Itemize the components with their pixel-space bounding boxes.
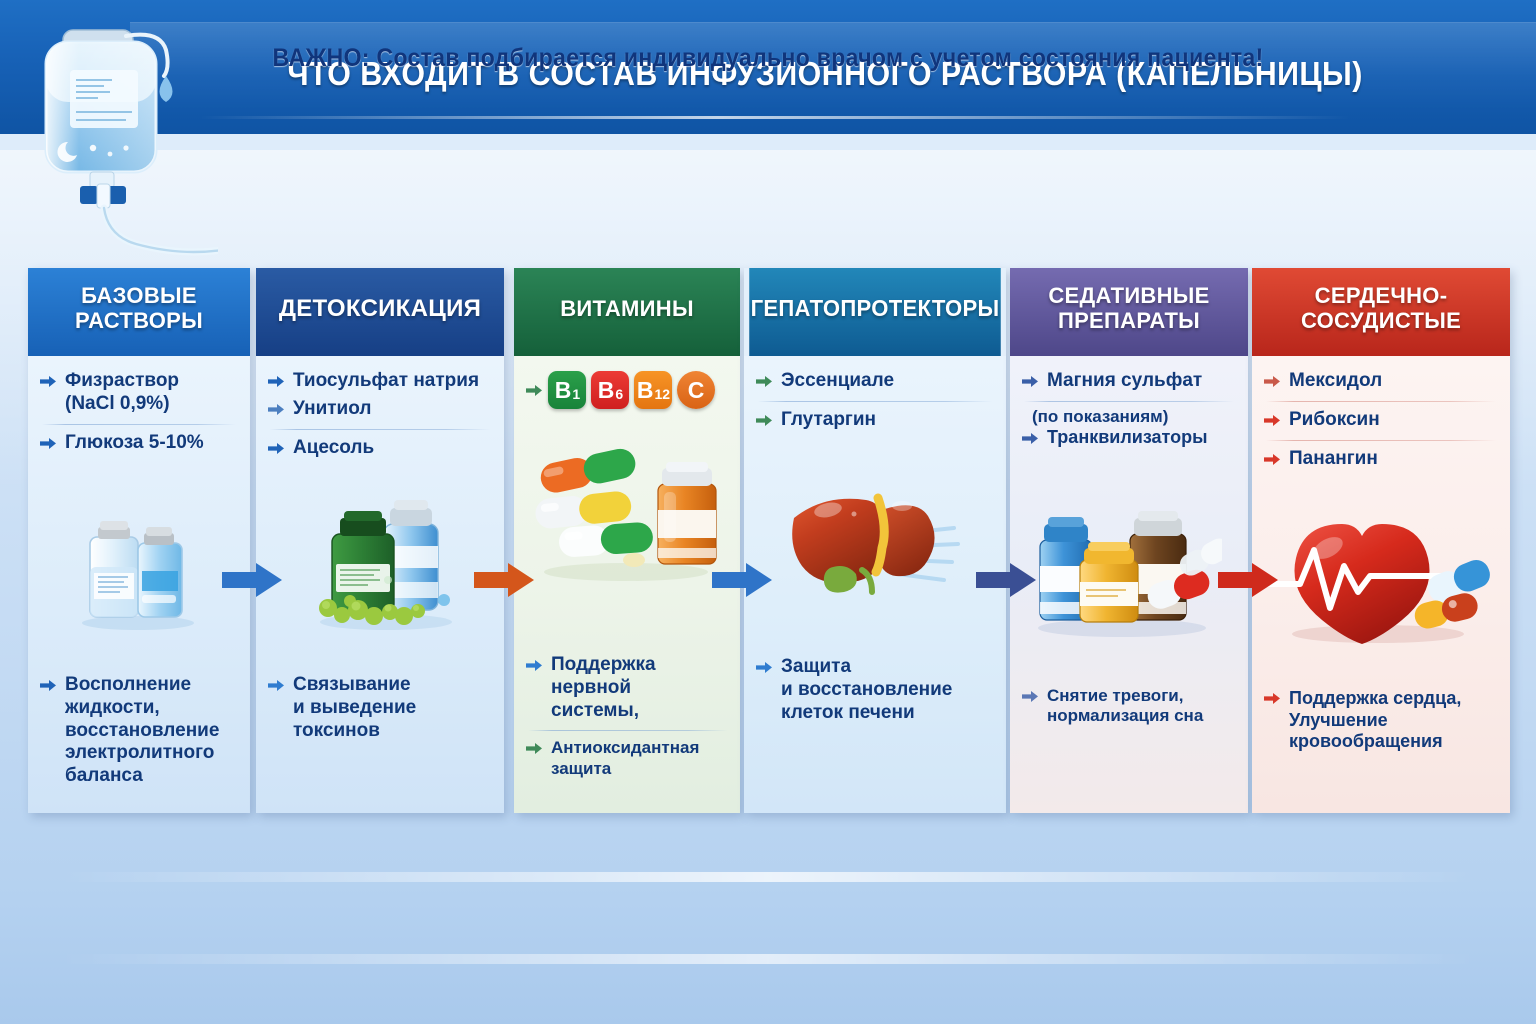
list-item-label: Транквилизаторы: [1047, 427, 1208, 449]
list-item[interactable]: Тиосульфат натрия: [268, 368, 492, 396]
column-header-detox: ДЕТОКСИКАЦИЯ: [256, 268, 504, 356]
column-sedatives[interactable]: СЕДАТИВНЫЕ ПРЕПАРАТЫ Магния сульфат (по …: [1010, 268, 1248, 813]
benefit-label: Снятие тревоги, нормализация сна: [1047, 686, 1203, 727]
arrow-bullet-icon: [1264, 451, 1281, 466]
arrow-bullet-icon: [268, 440, 285, 455]
benefit-item: Поддержка нервной системы,: [526, 652, 730, 725]
list-item-label: Унитиол: [293, 398, 371, 421]
liver-organ-icon: [786, 484, 966, 609]
divider: [270, 429, 490, 430]
column-header-sedatives: СЕДАТИВНЫЕ ПРЕПАРАТЫ: [1010, 268, 1248, 356]
benefit-label: Защита и восстановление клеток печени: [781, 656, 952, 724]
benefit-item: Связывание и выведение токсинов: [268, 672, 494, 745]
divider: [1266, 440, 1496, 441]
header-underline: [200, 116, 1350, 119]
arrow-bullet-icon: [756, 373, 773, 388]
column-body-detox: Тиосульфат натрия Унитиол Ацесоль: [256, 356, 504, 813]
list-item[interactable]: Глутаргин: [756, 407, 994, 435]
benefit-label: Восполнение жидкости, восстановление эле…: [65, 674, 219, 788]
column-header-base-solutions: БАЗОВЫЕ РАСТВОРЫ: [28, 268, 250, 356]
column-detox[interactable]: ДЕТОКСИКАЦИЯ Тиосульфат натрия Унитиол: [256, 268, 504, 813]
list-item[interactable]: Эссенциале: [756, 368, 994, 396]
list-item[interactable]: Транквилизаторы: [1022, 427, 1236, 452]
arrow-bullet-icon: [1264, 691, 1281, 706]
pill-bottles-and-capsule-icon: [1026, 504, 1222, 645]
benefit-item: Защита и восстановление клеток печени: [756, 654, 996, 727]
list-item-label: Тиосульфат натрия: [293, 370, 479, 393]
column-header-cardiovascular: СЕРДЕЧНО- СОСУДИСТЫЕ: [1252, 268, 1510, 356]
vitamin-badge-b1: B1: [548, 371, 586, 409]
list-item[interactable]: Физраствор (NaCl 0,9%): [40, 368, 238, 419]
column-header-vitamins: ВИТАМИНЫ: [514, 268, 740, 356]
divider: [42, 424, 236, 425]
arrow-bullet-icon: [40, 373, 57, 388]
benefit-hepatoprotectors: Защита и восстановление клеток печени: [756, 654, 996, 727]
sedatives-note: (по показаниям): [1022, 407, 1236, 427]
benefit-item: Снятие тревоги, нормализация сна: [1022, 684, 1238, 730]
list-item-label: Глюкоза 5-10%: [65, 432, 204, 455]
arrow-bullet-icon: [526, 657, 543, 672]
arrow-bullet-icon: [40, 435, 57, 450]
capsules-and-pill-bottle-icon: [530, 444, 726, 599]
list-item-label: Ацесоль: [293, 437, 374, 460]
footer-band: [0, 858, 1536, 976]
vitamin-badge-b6: B6: [591, 371, 629, 409]
benefit-item: Антиоксидантная защита: [526, 736, 730, 782]
flow-arrow-3: [712, 560, 774, 600]
arrow-bullet-icon: [756, 659, 773, 674]
list-item[interactable]: Магния сульфат: [1022, 368, 1236, 396]
column-body-base-solutions: Физраствор (NaCl 0,9%) Глюкоза 5-10%: [28, 356, 250, 813]
column-hepatoprotectors[interactable]: ГЕПАТОПРОТЕКТОРЫ Эссенциале Глутаргин: [744, 268, 1006, 813]
list-item[interactable]: Унитиол: [268, 396, 492, 424]
benefit-vitamins: Поддержка нервной системы, Антиоксидантн…: [526, 652, 730, 782]
divider: [758, 401, 992, 402]
list-item-label: Физраствор (NaCl 0,9%): [65, 370, 179, 416]
list-item-label: Эссенциале: [781, 370, 894, 393]
column-body-sedatives: Магния сульфат (по показаниям) Транквили…: [1010, 356, 1248, 813]
arrow-bullet-icon: [1022, 430, 1039, 445]
benefit-sedatives: Снятие тревоги, нормализация сна: [1022, 684, 1238, 730]
list-item-label: Глутаргин: [781, 409, 876, 432]
arrow-bullet-icon: [268, 677, 285, 692]
list-item-label: Магния сульфат: [1047, 370, 1202, 393]
vitamin-badges: B1 B6 B12 C: [548, 371, 715, 409]
list-item[interactable]: Ацесоль: [268, 435, 492, 463]
column-cardiovascular[interactable]: СЕРДЕЧНО- СОСУДИСТЫЕ Мексидол Рибоксин: [1252, 268, 1510, 813]
benefit-label: Поддержка нервной системы,: [551, 654, 656, 722]
flow-arrow-4: [976, 560, 1038, 600]
column-body-vitamins: B1 B6 B12 C: [514, 356, 740, 813]
column-base-solutions[interactable]: БАЗОВЫЕ РАСТВОРЫ Физраствор (NaCl 0,9%) …: [28, 268, 250, 813]
arrow-bullet-icon: [268, 401, 285, 416]
vitamin-badge-row: B1 B6 B12 C: [526, 368, 728, 412]
column-header-hepatoprotectors: ГЕПАТОПРОТЕКТОРЫ: [749, 268, 1001, 356]
list-item-label: Рибоксин: [1289, 409, 1380, 432]
vitamin-badge-b12: B12: [634, 371, 672, 409]
column-body-cardiovascular: Мексидол Рибоксин Панангин: [1252, 356, 1510, 813]
list-item-label: Мексидол: [1289, 370, 1382, 393]
divider: [1024, 401, 1234, 402]
benefit-base-solutions: Восполнение жидкости, восстановление эле…: [40, 672, 240, 791]
benefit-cardiovascular: Поддержка сердца, Улучшение кровообращен…: [1264, 686, 1500, 756]
benefit-label: Антиоксидантная защита: [551, 738, 699, 779]
infographic-poster: ЧТО ВХОДИТ В СОСТАВ ИНФУЗИОННОГО РАСТВОР…: [0, 0, 1536, 1024]
vitamin-badge-c: C: [677, 371, 715, 409]
column-vitamins[interactable]: ВИТАМИНЫ B1 B6 B12 C: [514, 268, 740, 813]
footer-note: ВАЖНО: Состав подбирается индивидуально …: [54, 44, 1482, 73]
flow-arrow-2: [474, 560, 536, 600]
arrow-bullet-icon: [526, 741, 543, 756]
arrow-bullet-icon: [526, 382, 543, 397]
list-item[interactable]: Глюкоза 5-10%: [40, 430, 238, 458]
benefit-item: Поддержка сердца, Улучшение кровообращен…: [1264, 686, 1500, 756]
benefit-label: Поддержка сердца, Улучшение кровообращен…: [1289, 688, 1461, 753]
arrow-bullet-icon: [268, 373, 285, 388]
divider: [528, 730, 728, 731]
category-columns: БАЗОВЫЕ РАСТВОРЫ Физраствор (NaCl 0,9%) …: [0, 268, 1536, 813]
two-glass-vials-icon: [76, 501, 206, 636]
arrow-bullet-icon: [1264, 373, 1281, 388]
footer-sheen-top: [60, 872, 1476, 882]
arrow-bullet-icon: [1022, 373, 1039, 388]
benefit-detox: Связывание и выведение токсинов: [268, 672, 494, 745]
benefit-item: Восполнение жидкости, восстановление эле…: [40, 672, 240, 791]
list-item-label: Панангин: [1289, 448, 1378, 471]
flow-arrow-1: [222, 560, 284, 600]
list-item[interactable]: Мексидол: [1264, 368, 1498, 396]
column-body-hepatoprotectors: Эссенциале Глутаргин: [744, 356, 1006, 813]
arrow-bullet-icon: [40, 677, 57, 692]
green-and-blue-bottles-icon: [306, 486, 466, 641]
list-item[interactable]: Рибоксин: [1264, 407, 1498, 435]
arrow-bullet-icon: [1022, 689, 1039, 704]
heart-with-ecg-icon: [1266, 506, 1496, 651]
flow-arrow-5: [1218, 560, 1280, 600]
divider: [1266, 401, 1496, 402]
arrow-bullet-icon: [1264, 412, 1281, 427]
footer-sheen-bottom: [60, 954, 1476, 964]
arrow-bullet-icon: [756, 412, 773, 427]
list-item[interactable]: Панангин: [1264, 446, 1498, 474]
benefit-label: Связывание и выведение токсинов: [293, 674, 416, 742]
